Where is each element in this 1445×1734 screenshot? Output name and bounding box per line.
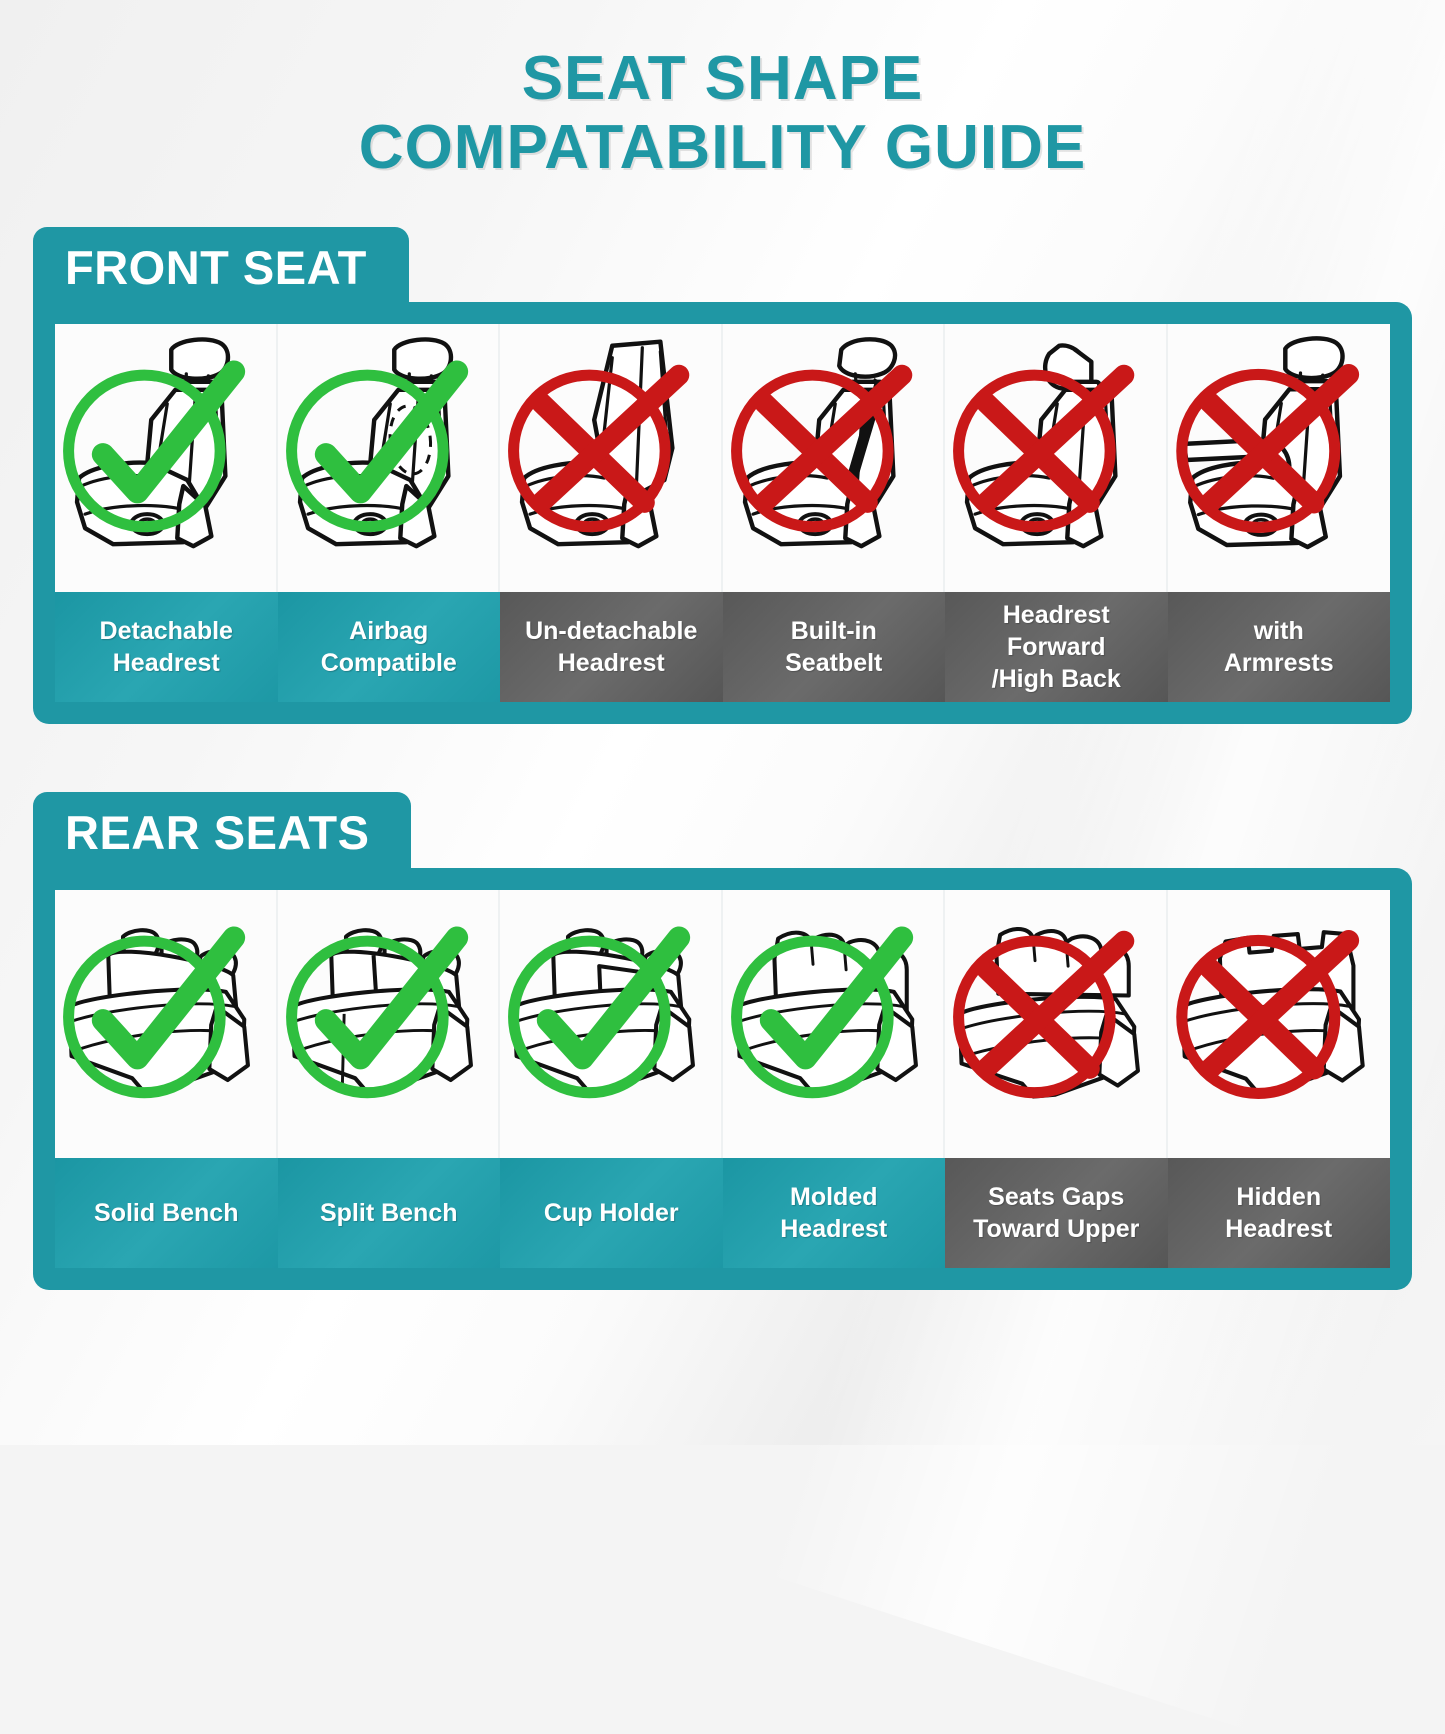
- seat-built-in-seatbelt: [723, 324, 946, 592]
- seat-airbag-compatible: [278, 324, 501, 592]
- seat-type-cell[interactable]: Built-inSeatbelt: [723, 324, 946, 702]
- seat-type-label: HiddenHeadrest: [1168, 1158, 1391, 1268]
- check-icon: [55, 890, 262, 1144]
- seat-type-label-line: Seats Gaps: [973, 1181, 1139, 1213]
- seat-type-label: AirbagCompatible: [278, 592, 501, 702]
- seat-type-label-line: Headrest: [100, 647, 233, 679]
- check-icon: [264, 324, 485, 578]
- rear-seats-panel: Solid Bench Split Bench Cup Holder: [33, 868, 1412, 1290]
- bench-seats-gaps-upper: [945, 890, 1168, 1158]
- seat-type-cell[interactable]: Cup Holder: [500, 890, 723, 1268]
- seat-type-label-line: Built-in: [785, 615, 882, 647]
- seat-undetachable-headrest: [500, 324, 723, 592]
- seat-type-label-line: Cup Holder: [544, 1197, 679, 1229]
- seat-type-cell[interactable]: MoldedHeadrest: [723, 890, 946, 1268]
- seat-type-cell[interactable]: Split Bench: [278, 890, 501, 1268]
- page-title-line-1: SEAT SHAPE: [0, 44, 1445, 113]
- front-seat-grid: DetachableHeadrest AirbagCompatible: [55, 324, 1390, 702]
- seat-type-label-line: Toward Upper: [973, 1213, 1139, 1245]
- check-icon: [486, 890, 707, 1144]
- seat-type-cell[interactable]: Un-detachableHeadrest: [500, 324, 723, 702]
- seat-type-label: Headrest Forward/High Back: [945, 592, 1168, 702]
- seat-type-label-line: Seatbelt: [785, 647, 882, 679]
- seat-type-label-line: Un-detachable: [525, 615, 697, 647]
- seat-headrest-forward: [945, 324, 1168, 592]
- check-icon: [709, 890, 930, 1144]
- bench-solid: [55, 890, 278, 1158]
- seat-type-label-line: Detachable: [100, 615, 233, 647]
- bench-hidden-headrest: [1168, 890, 1391, 1158]
- seat-type-label-line: Armrests: [1224, 647, 1334, 679]
- front-seat-heading: FRONT SEAT: [33, 227, 409, 306]
- bench-molded-headrest: [723, 890, 946, 1158]
- cross-icon: [709, 324, 930, 578]
- cross-icon: [486, 324, 707, 578]
- seat-type-cell[interactable]: Solid Bench: [55, 890, 278, 1268]
- rear-seats-section: REAR SEATS Solid Bench Split Bench: [33, 792, 1412, 1289]
- cross-icon: [1154, 890, 1377, 1144]
- bench-cup-holder: [500, 890, 723, 1158]
- seat-type-label: Cup Holder: [500, 1158, 723, 1268]
- seat-type-label: Un-detachableHeadrest: [500, 592, 723, 702]
- seat-type-label: Solid Bench: [55, 1158, 278, 1268]
- seat-detachable-headrest: [55, 324, 278, 592]
- seat-type-cell[interactable]: Headrest Forward/High Back: [945, 324, 1168, 702]
- seat-type-cell[interactable]: AirbagCompatible: [278, 324, 501, 702]
- front-seat-panel: DetachableHeadrest AirbagCompatible: [33, 302, 1412, 724]
- seat-type-label-line: Hidden: [1225, 1181, 1332, 1213]
- seat-type-label-line: Headrest: [525, 647, 697, 679]
- seat-type-label-line: Compatible: [321, 647, 457, 679]
- page-title: SEAT SHAPE COMPATABILITY GUIDE: [0, 0, 1445, 183]
- seat-type-label-line: Headrest: [1225, 1213, 1332, 1245]
- bench-split: [278, 890, 501, 1158]
- seat-type-cell[interactable]: Seats GapsToward Upper: [945, 890, 1168, 1268]
- rear-seats-heading: REAR SEATS: [33, 792, 411, 871]
- page-title-line-2: COMPATABILITY GUIDE: [0, 113, 1445, 182]
- seat-type-label: MoldedHeadrest: [723, 1158, 946, 1268]
- seat-type-label-line: Molded: [780, 1181, 887, 1213]
- seat-type-label-line: /High Back: [951, 663, 1162, 695]
- seat-type-label-line: Airbag: [321, 615, 457, 647]
- seat-type-label-line: Headrest: [780, 1213, 887, 1245]
- seat-type-label-line: with: [1224, 615, 1334, 647]
- seat-type-label-line: Headrest Forward: [951, 599, 1162, 663]
- seat-type-label: withArmrests: [1168, 592, 1391, 702]
- check-icon: [55, 324, 262, 578]
- front-seat-section: FRONT SEAT DetachableHeadrest: [33, 227, 1412, 724]
- seat-type-cell[interactable]: withArmrests: [1168, 324, 1391, 702]
- seat-type-cell[interactable]: DetachableHeadrest: [55, 324, 278, 702]
- seat-type-label: DetachableHeadrest: [55, 592, 278, 702]
- cross-icon: [931, 890, 1152, 1144]
- seat-with-armrests: [1168, 324, 1391, 592]
- rear-seats-grid: Solid Bench Split Bench Cup Holder: [55, 890, 1390, 1268]
- seat-type-label-line: Split Bench: [320, 1197, 458, 1229]
- seat-type-label: Built-inSeatbelt: [723, 592, 946, 702]
- seat-type-cell[interactable]: HiddenHeadrest: [1168, 890, 1391, 1268]
- check-icon: [264, 890, 485, 1144]
- cross-icon: [931, 324, 1152, 578]
- seat-type-label: Split Bench: [278, 1158, 501, 1268]
- seat-type-label: Seats GapsToward Upper: [945, 1158, 1168, 1268]
- cross-icon: [1154, 324, 1377, 578]
- seat-type-label-line: Solid Bench: [94, 1197, 238, 1229]
- infographic-page: SEAT SHAPE COMPATABILITY GUIDE FRONT SEA…: [0, 0, 1445, 1445]
